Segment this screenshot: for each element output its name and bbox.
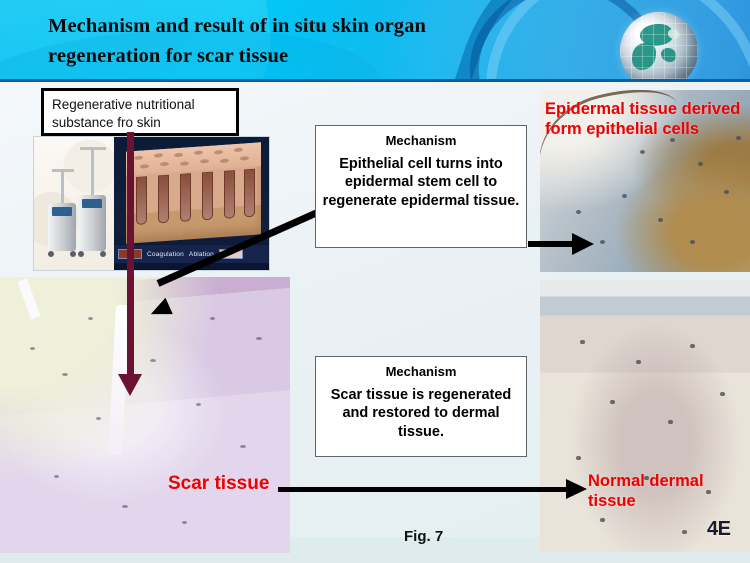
black-long-right-arrow-head bbox=[566, 479, 587, 499]
skin-block bbox=[126, 142, 261, 243]
globe-graticule bbox=[620, 12, 698, 82]
mechanism-box-epidermal: Mechanism Epithelial cell turns into epi… bbox=[315, 125, 527, 248]
maroon-down-arrow-shaft bbox=[127, 132, 134, 382]
histology-scar-tissue-image bbox=[0, 277, 290, 553]
maroon-down-arrow-head bbox=[118, 374, 142, 396]
page-title-line-1: Mechanism and result of in situ skin org… bbox=[48, 12, 568, 42]
mechanism-box-body: Epithelial cell turns into epidermal ste… bbox=[322, 155, 520, 210]
page-title: Mechanism and result of in situ skin org… bbox=[48, 12, 568, 71]
mechanism-box-dermal: Mechanism Scar tissue is regenerated and… bbox=[315, 356, 527, 457]
regenerative-substance-callout: Regenerative nutritional substance fro s… bbox=[41, 88, 239, 136]
scar-tissue-label: Scar tissue bbox=[168, 473, 269, 496]
page-title-line-2: regeneration for scar tissue bbox=[48, 42, 568, 72]
normal-dermal-tissue-label: Normal dermal tissue bbox=[588, 472, 748, 512]
black-right-arrow-head bbox=[572, 233, 594, 255]
watermark-label: 4E bbox=[707, 518, 730, 541]
scar-cleft-secondary bbox=[17, 278, 40, 319]
laser-device-icon bbox=[34, 137, 114, 270]
figure-caption: Fig. 7 bbox=[404, 528, 443, 545]
globe-icon bbox=[620, 12, 698, 82]
black-long-right-arrow-shaft bbox=[278, 487, 570, 492]
slide-root: Mechanism and result of in situ skin org… bbox=[0, 0, 750, 563]
mechanism-box-title: Mechanism bbox=[322, 364, 520, 379]
black-right-arrow-shaft bbox=[528, 241, 576, 247]
epidermal-tissue-label: Epidermal tissue derived form epithelial… bbox=[545, 100, 750, 140]
black-diagonal-arrow bbox=[150, 246, 325, 318]
mechanism-box-body: Scar tissue is regenerated and restored … bbox=[322, 386, 520, 441]
slide-header: Mechanism and result of in situ skin org… bbox=[0, 0, 750, 82]
mechanism-box-title: Mechanism bbox=[322, 133, 520, 148]
